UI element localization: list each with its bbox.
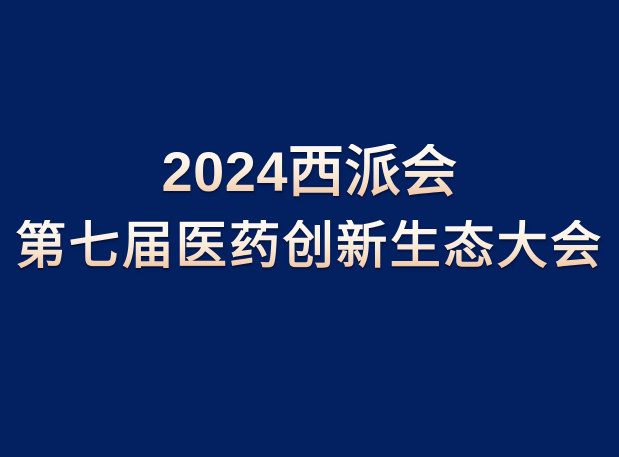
title-block: 2024西派会 第七届医药创新生态大会 (0, 144, 619, 273)
conference-title-poster: 2024西派会 第七届医药创新生态大会 (0, 0, 619, 457)
title-line-primary: 2024西派会 (161, 144, 457, 202)
title-line-secondary: 第七届医药创新生态大会 (15, 220, 604, 273)
